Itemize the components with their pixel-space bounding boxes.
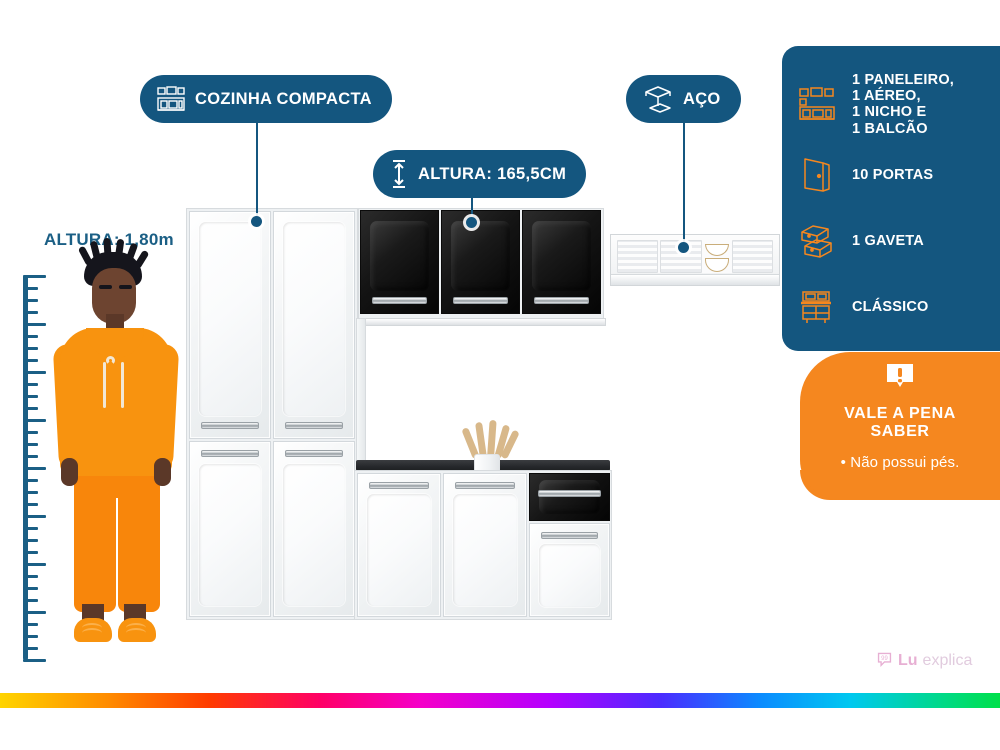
badge-label: ALTURA: 165,5CM — [418, 165, 566, 184]
badge-cozinha-compacta[interactable]: COZINHA COMPACTA — [140, 75, 392, 123]
hoodie-string-right — [121, 362, 124, 408]
pant-leg-right — [118, 466, 160, 612]
ruler-tick — [23, 575, 38, 578]
ruler-tick — [23, 431, 38, 434]
ruler-tick — [23, 623, 38, 626]
ruler-tick — [23, 299, 38, 302]
ruler-tick — [23, 371, 46, 374]
balcao-door-left — [357, 473, 441, 617]
ruler-tick — [23, 395, 38, 398]
bowl-stack — [704, 240, 730, 273]
nicho-contents — [617, 240, 773, 273]
aereo-bottom-lip — [358, 318, 606, 326]
spec-text: CLÁSSICO — [852, 299, 929, 315]
ruler-tick — [23, 467, 46, 470]
spec-row-drawers: 1 GAVETA — [796, 219, 990, 263]
ruler-tick — [23, 311, 38, 314]
infographic-canvas: ALTURA: 1,80m — [0, 0, 1000, 750]
ruler-tick — [23, 491, 38, 494]
plate-stack — [732, 240, 773, 273]
ruler-tick — [23, 407, 38, 410]
door-icon — [796, 153, 838, 197]
callout-title-line2: SABER — [800, 423, 1000, 441]
paneleiro-door-bottom-right — [273, 441, 355, 617]
hoodie-string-left — [103, 362, 106, 408]
connector-dot-aco — [678, 242, 689, 253]
ruler-tick — [23, 335, 38, 338]
connector-dot-cozinha — [251, 216, 262, 227]
aereo-door-3 — [522, 210, 601, 314]
ruler-tick — [23, 515, 46, 518]
paneleiro-door-top-right — [273, 211, 355, 439]
ruler-tick — [23, 611, 46, 614]
ruler-tick — [23, 503, 38, 506]
specs-panel: 1 PANELEIRO, 1 AÉREO, 1 NICHO E 1 BALCÃO… — [782, 46, 1000, 351]
svg-text:99: 99 — [881, 656, 888, 662]
lu-explica-logo: 99 Lu explica — [876, 650, 972, 672]
connector-dot-altura — [466, 217, 477, 228]
nicho-shelf — [610, 234, 780, 286]
spec-row-doors: 10 PORTAS — [796, 153, 990, 197]
ruler-tick — [23, 527, 38, 530]
ruler-tick — [23, 635, 38, 638]
ruler-tick — [23, 563, 46, 566]
ruler-tick — [23, 551, 38, 554]
plate-stack — [617, 240, 658, 273]
drawers-icon — [796, 219, 838, 263]
kitchen-furniture — [186, 208, 780, 620]
balcao-door-center — [443, 473, 527, 617]
person-illustration — [48, 252, 184, 662]
spec-text: 1 PANELEIRO, 1 AÉREO, 1 NICHO E 1 BALCÃO — [852, 72, 954, 137]
ruler-tick — [23, 659, 46, 662]
chat-bubble-icon: 99 — [876, 650, 893, 672]
ruler-tick — [23, 479, 38, 482]
badge-altura[interactable]: ALTURA: 165,5CM — [373, 150, 586, 198]
spec-row-modules: 1 PANELEIRO, 1 AÉREO, 1 NICHO E 1 BALCÃO — [796, 72, 990, 137]
callout-item: • Não possui pés. — [800, 454, 1000, 471]
paneleiro-door-bottom-left — [189, 441, 271, 617]
aereo-door-2 — [441, 210, 520, 314]
badge-label: AÇO — [683, 90, 721, 109]
callout-title-line1: VALE A PENA — [800, 405, 1000, 423]
ruler-tick — [23, 539, 38, 542]
balcao-door-right — [529, 523, 610, 617]
ruler-tick — [23, 347, 38, 350]
kitchen-cabinets-icon — [156, 84, 186, 114]
kitchen-modules-icon — [796, 82, 838, 126]
steel-beam-icon — [642, 84, 674, 114]
height-arrow-icon — [389, 158, 409, 190]
ruler-tick — [23, 587, 38, 590]
spec-text: 1 GAVETA — [852, 233, 924, 249]
callout-vale-a-pena-saber: VALE A PENA SABER • Não possui pés. — [800, 352, 1000, 500]
ruler-tick — [23, 383, 38, 386]
spec-text: 10 PORTAS — [852, 167, 933, 183]
hoodie-knot — [106, 356, 115, 365]
connector-line-aco — [683, 118, 685, 248]
spec-row-style: CLÁSSICO — [796, 285, 990, 329]
ruler-tick — [23, 419, 46, 422]
eyebrow-left — [99, 285, 112, 289]
ruler-tick — [23, 647, 38, 650]
logo-name: Lu — [898, 652, 918, 670]
badge-label: COZINHA COMPACTA — [195, 90, 372, 109]
ruler-tick — [23, 599, 38, 602]
exclamation-bubble-icon — [883, 381, 917, 398]
pant-leg-left — [74, 466, 116, 612]
ruler-tick — [23, 275, 46, 278]
classic-shelf-icon — [796, 285, 838, 329]
hand-left — [61, 458, 78, 486]
ruler-tick — [23, 443, 38, 446]
balcao-drawer — [529, 473, 610, 521]
rainbow-bar — [0, 693, 1000, 708]
ruler-tick — [23, 455, 38, 458]
shoe-left — [74, 618, 112, 642]
shoe-right — [118, 618, 156, 642]
badge-aco[interactable]: AÇO — [626, 75, 741, 123]
paneleiro-door-top-left — [189, 211, 271, 439]
hand-right — [154, 458, 171, 486]
logo-suffix: explica — [923, 652, 973, 670]
side-filler-panel — [356, 318, 366, 468]
ruler-tick — [23, 359, 38, 362]
ruler-tick — [23, 323, 46, 326]
connector-line-cozinha — [256, 118, 258, 222]
aereo-door-1 — [360, 210, 439, 314]
height-ruler — [14, 275, 40, 660]
eyebrow-right — [119, 285, 132, 289]
ruler-tick — [23, 287, 38, 290]
